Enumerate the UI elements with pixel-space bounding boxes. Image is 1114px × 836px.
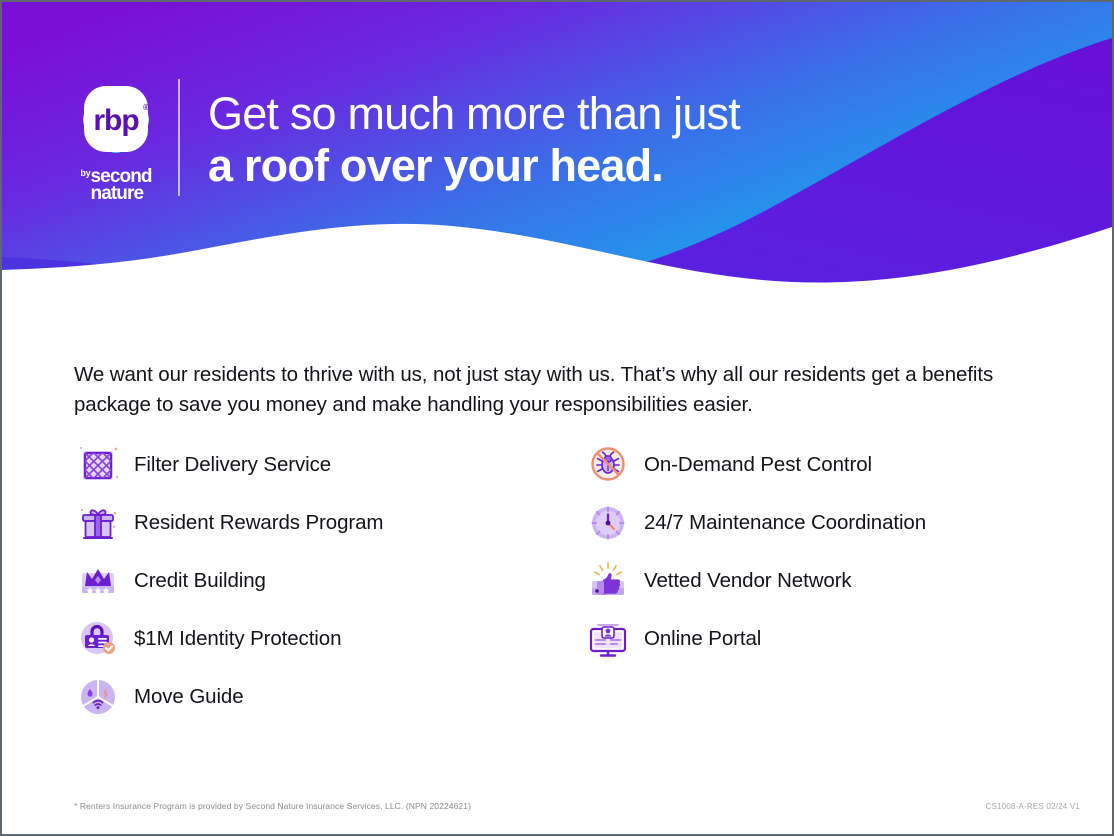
- headline-line-1: Get so much more than just: [208, 88, 928, 140]
- crown-stars-icon: [76, 559, 120, 603]
- footer-doc-code: CS1008-A-RES 02/24 V1: [986, 802, 1080, 811]
- svg-text:®: ®: [143, 103, 149, 112]
- benefit-credit-building: Credit Building: [76, 552, 546, 610]
- svg-text:rbp: rbp: [93, 104, 139, 137]
- benefit-label: Online Portal: [644, 627, 761, 651]
- clock-icon: [586, 501, 630, 545]
- gift-icon: [76, 501, 120, 545]
- logo-by-label: by: [80, 168, 90, 178]
- benefit-label: Resident Rewards Program: [134, 511, 383, 535]
- rbp-badge-icon: rbp ®: [70, 74, 162, 166]
- hero-vertical-divider: [178, 79, 180, 196]
- marketing-flyer: rbp ® bysecondnature Get so much more th…: [0, 0, 1114, 836]
- headline-line-2: a roof over your head.: [208, 140, 928, 192]
- benefit-online-portal: Online Portal: [586, 610, 1056, 668]
- thumbs-up-icon: [586, 559, 630, 603]
- benefit-label: $1M Identity Protection: [134, 627, 341, 651]
- benefit-move-guide: Move Guide: [76, 668, 546, 726]
- hero-banner: rbp ® bysecondnature Get so much more th…: [2, 2, 1112, 332]
- air-filter-icon: [76, 443, 120, 487]
- benefit-resident-rewards-program: Resident Rewards Program: [76, 494, 546, 552]
- rbp-logo-mark: rbp ®: [70, 74, 162, 166]
- rbp-logo: rbp ® bysecondnature: [68, 74, 164, 202]
- benefit-label: 24/7 Maintenance Coordination: [644, 511, 926, 535]
- intro-paragraph: We want our residents to thrive with us,…: [74, 360, 1014, 420]
- id-lock-icon: [76, 617, 120, 661]
- benefits-column-right: On-Demand Pest Control 24/7 Maintenance …: [586, 436, 1056, 668]
- benefit-identity-protection: $1M Identity Protection: [76, 610, 546, 668]
- benefit-label: Filter Delivery Service: [134, 453, 331, 477]
- benefit-label: On-Demand Pest Control: [644, 453, 872, 477]
- no-pest-icon: [586, 443, 630, 487]
- benefit-label: Vetted Vendor Network: [644, 569, 852, 593]
- footer-disclaimer: * Renters Insurance Program is provided …: [74, 801, 471, 811]
- benefit-maintenance-coordination: 24/7 Maintenance Coordination: [586, 494, 1056, 552]
- utilities-circle-icon: [76, 675, 120, 719]
- benefit-label: Credit Building: [134, 569, 266, 593]
- benefit-vetted-vendor-network: Vetted Vendor Network: [586, 552, 1056, 610]
- benefit-filter-delivery-service: Filter Delivery Service: [76, 436, 546, 494]
- monitor-icon: [586, 617, 630, 661]
- benefits-column-left: Filter Delivery Service Reside: [76, 436, 546, 726]
- benefit-pest-control: On-Demand Pest Control: [586, 436, 1056, 494]
- benefit-label: Move Guide: [134, 685, 244, 709]
- logo-nature-label: nature: [90, 185, 151, 202]
- logo-wordmark: bysecondnature: [68, 168, 164, 204]
- hero-headline: Get so much more than just a roof over y…: [208, 88, 928, 192]
